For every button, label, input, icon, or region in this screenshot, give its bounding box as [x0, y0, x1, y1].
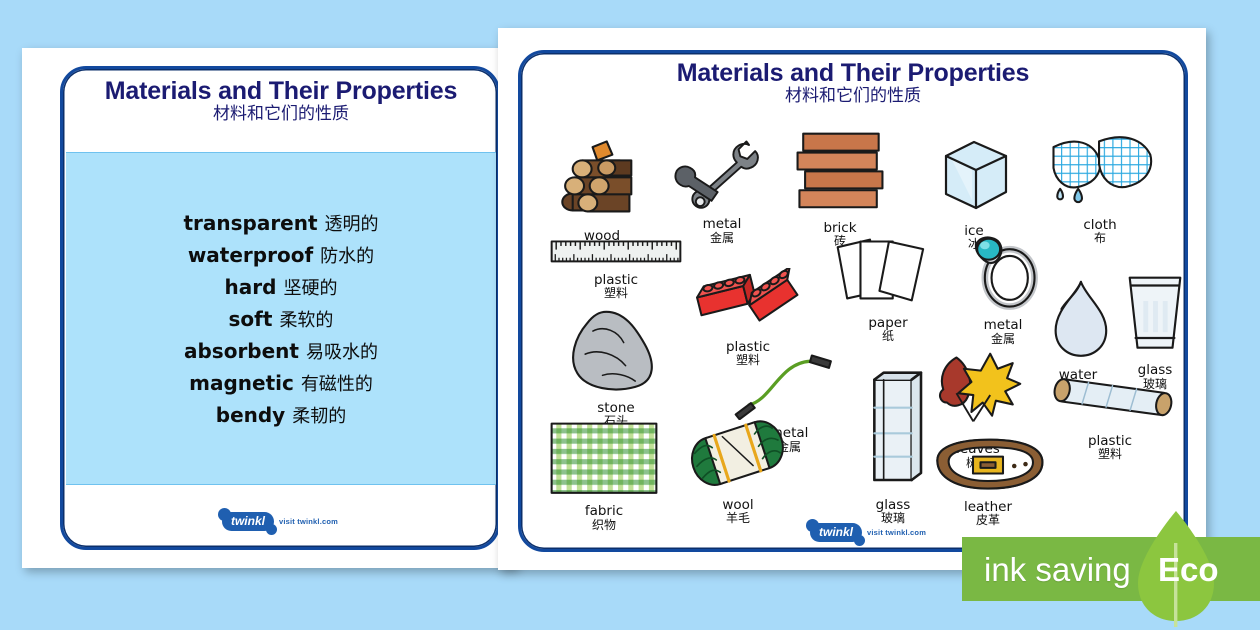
material-caption: plastic塑料: [1088, 434, 1132, 461]
material-item-plastic-ruler: plastic塑料: [548, 236, 684, 300]
back-title-english: Materials and Their Properties: [105, 78, 457, 104]
material-label-chinese: 塑料: [594, 287, 638, 300]
material-caption: metal金属: [703, 217, 742, 244]
material-label-chinese: 纸: [868, 330, 907, 343]
back-card-footer: twinkl visit twinkl.com: [66, 498, 494, 544]
properties-word-panel: transparent透明的waterproof防水的hard坚硬的soft柔软…: [66, 152, 496, 485]
stone-icon: [564, 306, 668, 400]
material-label-chinese: 皮革: [964, 514, 1012, 527]
twinkl-cloud-icon: twinkl: [222, 512, 274, 531]
property-word-chinese: 易吸水的: [306, 338, 378, 364]
property-word-chinese: 柔软的: [279, 306, 333, 332]
property-word-english: hard: [225, 275, 277, 299]
front-title-chinese: 材料和它们的性质: [785, 87, 921, 106]
back-card-title-block: Materials and Their Properties 材料和它们的性质: [68, 74, 494, 146]
wire-icon: [730, 346, 848, 425]
material-caption: wool羊毛: [722, 498, 753, 525]
property-word-row: absorbent易吸水的: [184, 338, 378, 364]
property-word-list: transparent透明的waterproof防水的hard坚硬的soft柔软…: [183, 210, 378, 428]
eco-label: Eco: [1158, 553, 1219, 586]
material-item-metal-ring: metal金属: [960, 232, 1046, 345]
material-label-english: leather: [964, 500, 1012, 514]
material-item-glass-cup: glass玻璃: [1120, 268, 1190, 390]
ring-icon: [960, 232, 1046, 317]
twinkl-visit-url-back: visit twinkl.com: [279, 517, 338, 526]
material-label-english: metal: [984, 318, 1023, 332]
material-item-leather: leather皮革: [928, 436, 1048, 527]
material-label-chinese: 塑料: [1088, 448, 1132, 461]
material-item-metal-wrench: metal金属: [674, 138, 770, 244]
property-word-english: bendy: [216, 403, 285, 427]
material-item-plastic-wrap: plastic塑料: [1044, 376, 1176, 461]
material-item-stone: stone石头: [564, 306, 668, 428]
back-poster-card: Materials and Their Properties 材料和它们的性质 …: [22, 48, 516, 568]
material-label-english: plastic: [594, 273, 638, 287]
glass-cup-icon: [1120, 268, 1190, 362]
front-poster-card: Materials and Their Properties 材料和它们的性质 …: [498, 28, 1206, 570]
ink-saving-eco-badge: ink saving Eco: [962, 537, 1260, 601]
material-label-chinese: 金属: [703, 232, 742, 245]
property-word-english: absorbent: [184, 339, 299, 363]
back-title-chinese: 材料和它们的性质: [213, 105, 349, 124]
twinkl-cloud-icon-front: twinkl: [810, 523, 862, 542]
materials-illustration-board: wood木头 metal金属 brick砖 ice冰 c: [532, 128, 1178, 548]
property-word-row: waterproof防水的: [188, 242, 374, 268]
material-label-english: stone: [597, 401, 634, 415]
property-word-english: transparent: [183, 211, 317, 235]
property-word-row: transparent透明的: [183, 210, 378, 236]
material-label-english: glass: [876, 498, 911, 512]
paper-sheets-icon: [832, 232, 944, 315]
cling-film-icon: [1044, 376, 1176, 433]
property-word-chinese: 柔韧的: [292, 402, 346, 428]
bricks-icon: [790, 128, 890, 220]
belt-icon: [928, 436, 1048, 499]
property-word-chinese: 坚硬的: [283, 274, 337, 300]
material-item-fabric: fabric织物: [546, 418, 662, 531]
ruler-icon: [548, 236, 684, 272]
property-word-row: soft柔软的: [229, 306, 334, 332]
ink-saving-label: ink saving: [984, 553, 1131, 586]
wrench-icon: [674, 138, 770, 216]
material-item-brick: brick砖: [790, 128, 890, 248]
water-drop-icon: [1042, 276, 1114, 367]
property-word-english: soft: [229, 307, 273, 331]
cloth-icon: [1044, 130, 1156, 217]
material-item-paper: paper纸: [832, 232, 944, 343]
ice-cube-icon: [928, 134, 1020, 223]
material-caption: cloth布: [1083, 218, 1116, 245]
material-label-english: metal: [703, 217, 742, 231]
material-caption: glass玻璃: [876, 498, 911, 525]
material-label-english: paper: [868, 316, 907, 330]
property-word-chinese: 透明的: [325, 210, 379, 236]
material-label-chinese: 布: [1083, 232, 1116, 245]
material-caption: fabric织物: [585, 504, 623, 531]
material-label-english: cloth: [1083, 218, 1116, 232]
material-label-chinese: 织物: [585, 519, 623, 532]
twinkl-visit-url-front: visit twinkl.com: [867, 528, 926, 537]
lego-bricks-icon: [694, 268, 802, 339]
twinkl-logo-front[interactable]: twinkl visit twinkl.com: [810, 523, 926, 542]
property-word-row: hard坚硬的: [225, 274, 338, 300]
property-word-chinese: 有磁性的: [301, 370, 373, 396]
material-item-cloth: cloth布: [1044, 130, 1156, 245]
logs-icon: [550, 132, 654, 228]
twinkl-logo-back[interactable]: twinkl visit twinkl.com: [222, 512, 338, 531]
property-word-english: waterproof: [188, 243, 313, 267]
property-word-english: magnetic: [189, 371, 294, 395]
material-item-glass-jar: glass玻璃: [858, 368, 928, 525]
material-label-english: fabric: [585, 504, 623, 518]
property-word-chinese: 防水的: [320, 242, 374, 268]
fabric-swatch-icon: [546, 418, 662, 503]
yarn-ball-icon: [688, 416, 788, 497]
front-title-english: Materials and Their Properties: [677, 60, 1029, 86]
front-card-title-block: Materials and Their Properties 材料和它们的性质: [524, 60, 1182, 122]
leaves-icon: [932, 350, 1024, 441]
poster-preview: Materials and Their Properties 材料和它们的性质 …: [0, 0, 1260, 630]
material-caption: leather皮革: [964, 500, 1012, 527]
material-caption: plastic塑料: [594, 273, 638, 300]
material-label-chinese: 羊毛: [722, 512, 753, 525]
property-word-row: magnetic有磁性的: [189, 370, 373, 396]
material-item-wool: wool羊毛: [688, 416, 788, 525]
property-word-row: bendy柔韧的: [216, 402, 346, 428]
material-caption: paper纸: [868, 316, 907, 343]
material-label-chinese: 金属: [984, 333, 1023, 346]
glass-tube-icon: [858, 368, 928, 497]
material-caption: metal金属: [984, 318, 1023, 345]
